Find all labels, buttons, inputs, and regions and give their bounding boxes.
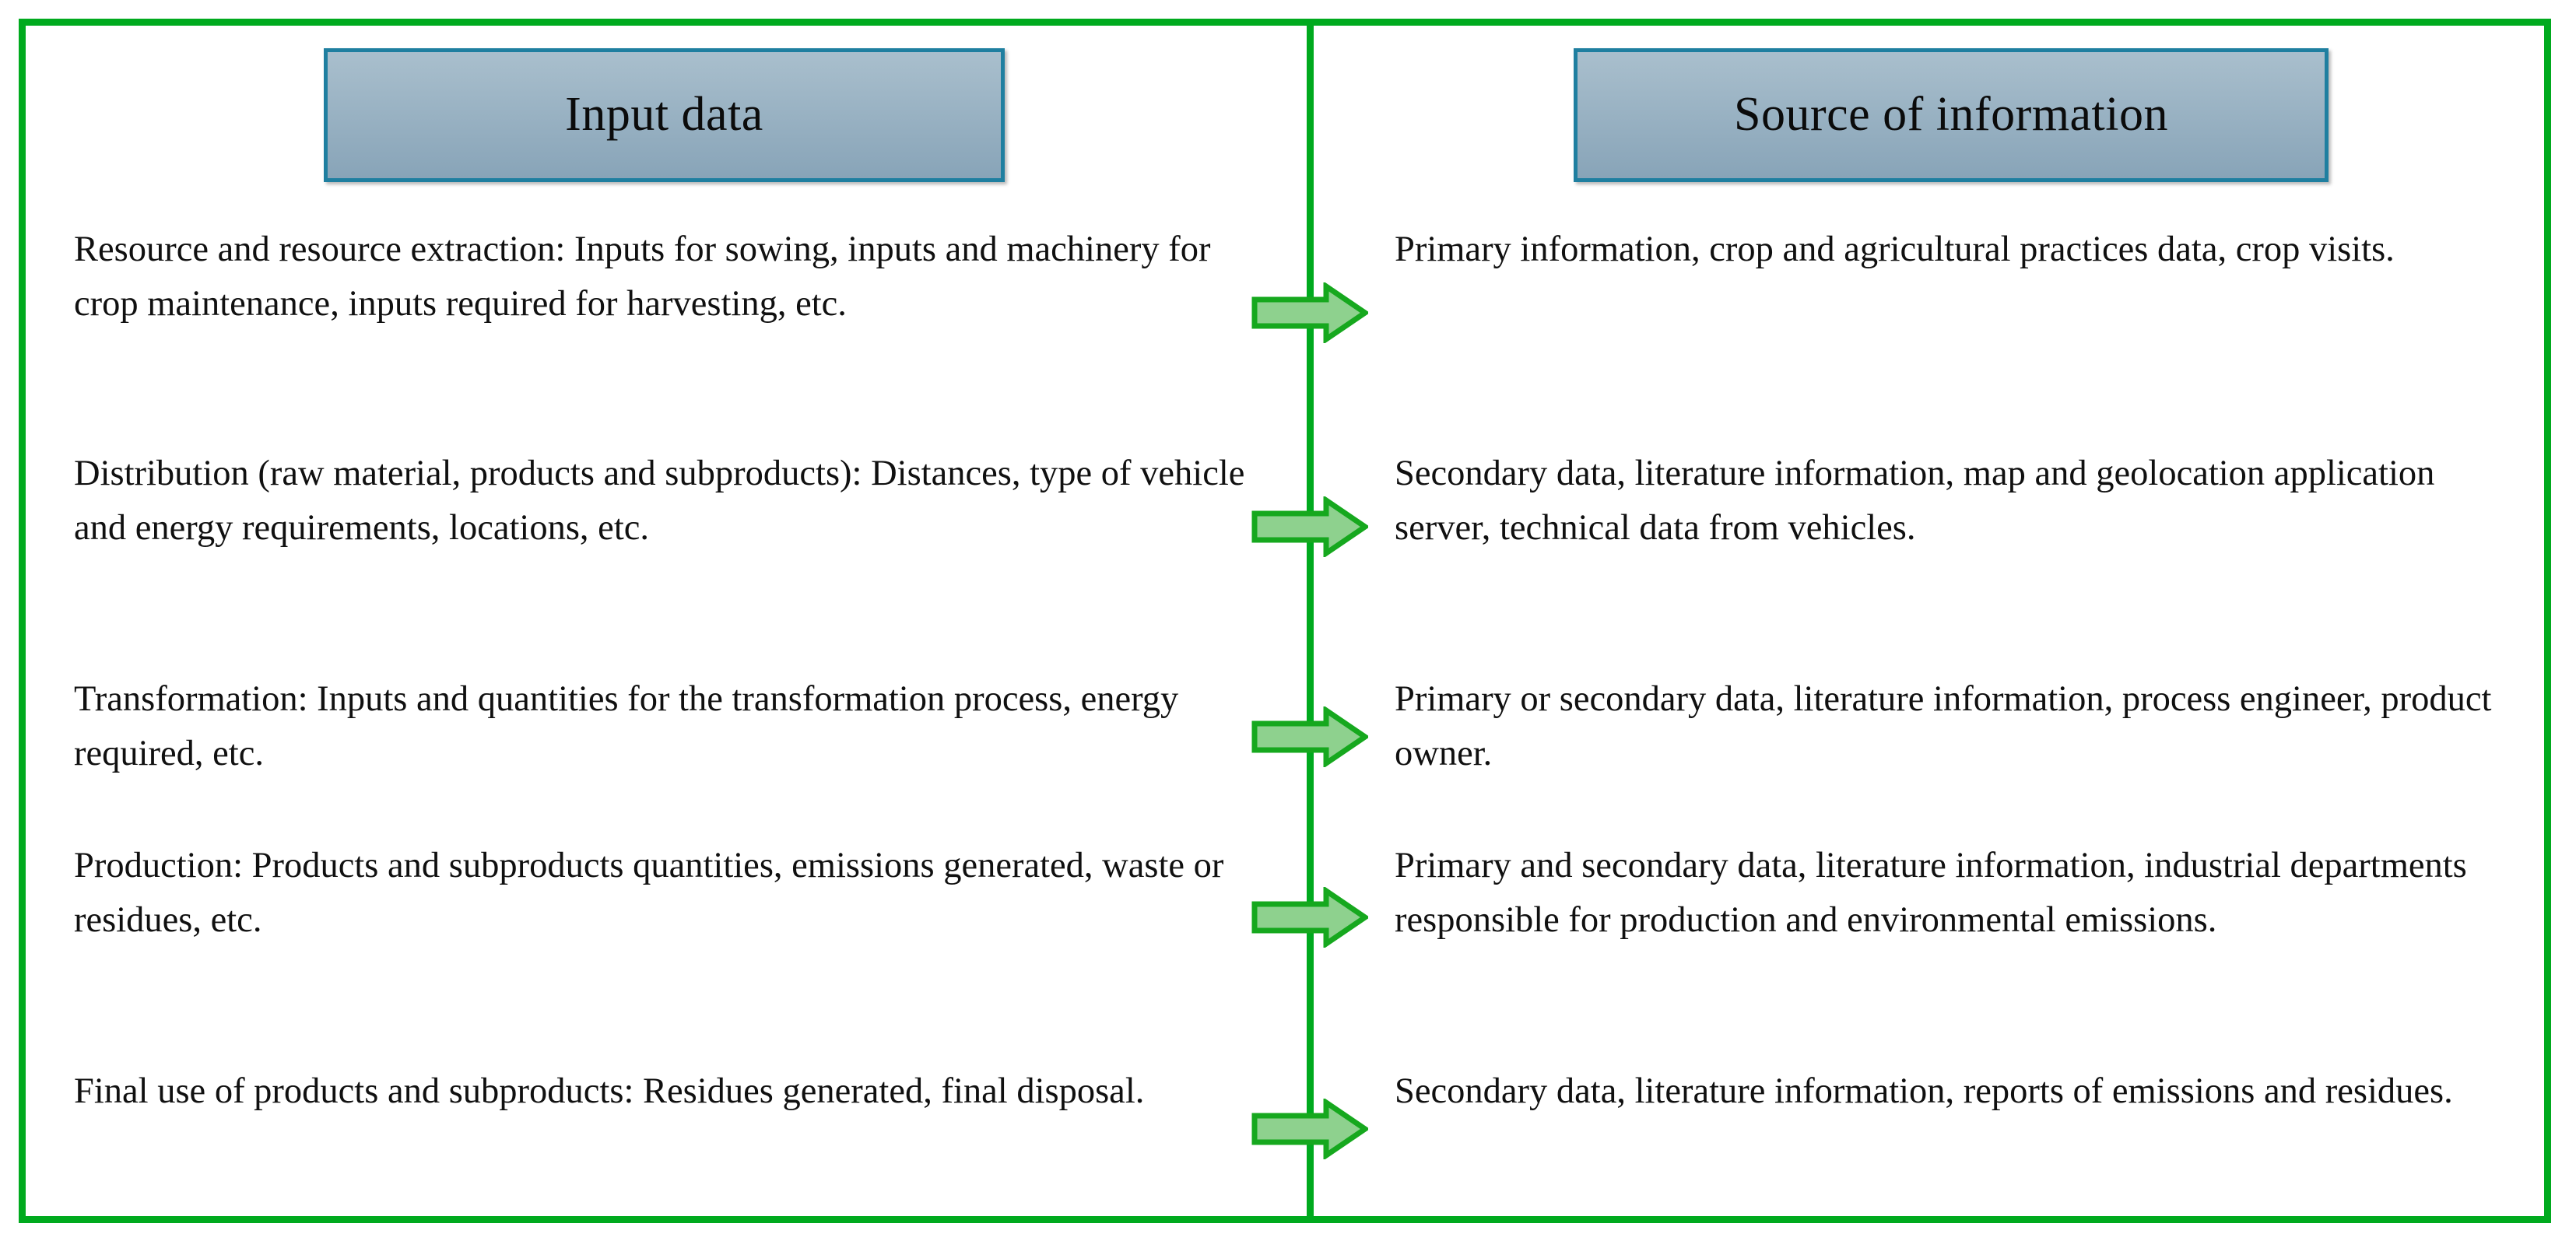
- source-of-information-item-4: Primary and secondary data, literature i…: [1395, 839, 2531, 948]
- input-data-item-4: Production: Products and subproducts qua…: [74, 839, 1249, 948]
- source-of-information-item-5: Secondary data, literature information, …: [1395, 1064, 2531, 1119]
- figure-canvas: Input data Source of information Resourc…: [0, 0, 2576, 1248]
- input-data-item-5: Final use of products and subproducts: R…: [74, 1064, 1249, 1119]
- flow-arrow-3: [1251, 706, 1368, 767]
- source-of-information-item-3: Primary or secondary data, literature in…: [1395, 672, 2531, 781]
- flow-arrow-1: [1251, 282, 1368, 343]
- input-data-item-3: Transformation: Inputs and quantities fo…: [74, 672, 1249, 781]
- header-box-source-of-information: Source of information: [1574, 48, 2329, 182]
- header-label-input-data: Input data: [565, 89, 763, 140]
- header-box-input-data: Input data: [324, 48, 1005, 182]
- flow-arrow-4: [1251, 887, 1368, 948]
- input-data-item-2: Distribution (raw material, products and…: [74, 447, 1249, 556]
- source-of-information-item-2: Secondary data, literature information, …: [1395, 447, 2531, 556]
- header-label-source-of-information: Source of information: [1734, 89, 2168, 140]
- flow-arrow-2: [1251, 496, 1368, 557]
- outer-green-frame: [19, 19, 2551, 1223]
- flow-arrow-5: [1251, 1099, 1368, 1159]
- source-of-information-item-1: Primary information, crop and agricultur…: [1395, 223, 2531, 277]
- input-data-item-1: Resource and resource extraction: Inputs…: [74, 223, 1249, 331]
- column-divider-line: [1307, 19, 1314, 1223]
